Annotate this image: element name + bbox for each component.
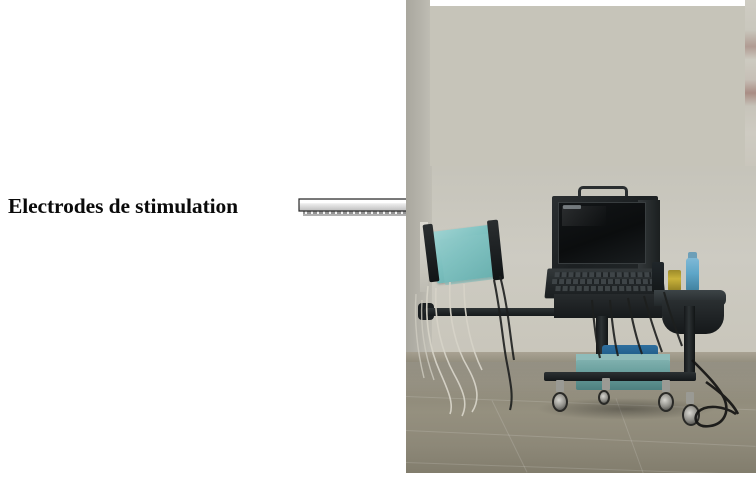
shelf-yellow-bottle <box>668 270 681 292</box>
photo-right-edge-sliver <box>745 0 756 166</box>
shelf-blue-bottle <box>686 258 699 292</box>
photo-mask-top-strip <box>430 0 745 6</box>
device-brand-logo <box>563 205 581 209</box>
cart-caster-rear-right <box>682 392 700 426</box>
annotated-figure: Electrodes de stimulation <box>0 0 756 481</box>
cart-caster-front-right <box>658 380 674 412</box>
cart-column-right <box>684 306 695 376</box>
photo-masked-region <box>430 0 745 166</box>
annotation-label-electrodes: Electrodes de stimulation <box>8 193 298 219</box>
device-screen-glare <box>562 206 606 226</box>
shelf-dark-bottle <box>652 262 664 292</box>
cart-caster-mid <box>598 378 610 405</box>
device-front-panel <box>554 294 662 318</box>
clinical-equipment-photo <box>406 0 756 473</box>
cart-caster-front-left <box>552 380 568 412</box>
